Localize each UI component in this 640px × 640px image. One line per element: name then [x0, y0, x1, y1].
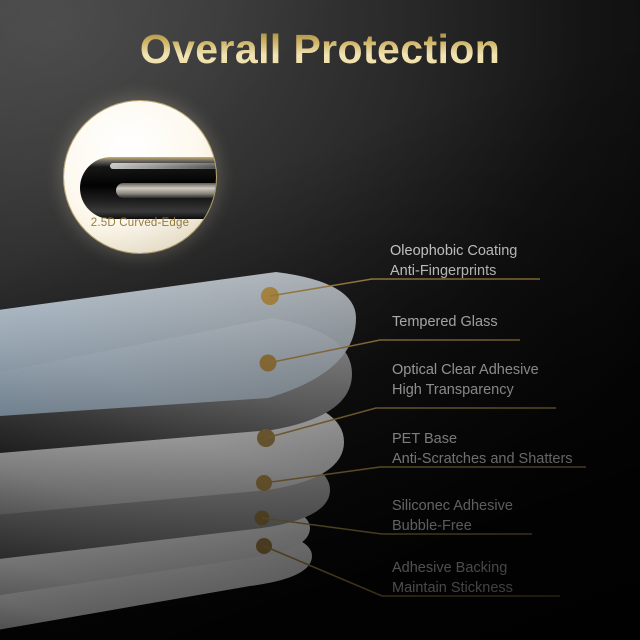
- label-siliconec-adhesive: Siliconec Adhesive Bubble-Free: [392, 496, 513, 536]
- label-line-2: High Transparency: [392, 380, 539, 400]
- curved-edge-glass-icon: [80, 157, 216, 219]
- label-oleophobic-coating: Oleophobic Coating Anti-Fingerprints: [390, 241, 517, 281]
- label-line-1: PET Base: [392, 429, 573, 449]
- curved-edge-inset-callout: 2.5D Curved-Edge: [64, 101, 216, 253]
- page-title: Overall Protection: [0, 26, 640, 73]
- label-line-1: Oleophobic Coating: [390, 241, 517, 261]
- label-tempered-glass: Tempered Glass: [392, 312, 498, 332]
- label-line-1: Optical Clear Adhesive: [392, 360, 539, 380]
- label-optical-clear-adhesive: Optical Clear Adhesive High Transparency: [392, 360, 539, 400]
- label-line-2: Bubble-Free: [392, 516, 513, 536]
- label-adhesive-backing: Adhesive Backing Maintain Stickness: [392, 558, 513, 598]
- label-line-2: Anti-Fingerprints: [390, 261, 517, 281]
- screen-protector-infographic: Oleophobic Coating Anti-Fingerprints Tem…: [0, 0, 640, 640]
- label-line-1: Tempered Glass: [392, 312, 498, 332]
- label-line-1: Siliconec Adhesive: [392, 496, 513, 516]
- label-pet-base: PET Base Anti-Scratches and Shatters: [392, 429, 573, 469]
- leader-lines: [0, 0, 640, 640]
- inset-caption: 2.5D Curved-Edge: [64, 217, 216, 229]
- label-line-2: Maintain Stickness: [392, 578, 513, 598]
- label-line-1: Adhesive Backing: [392, 558, 513, 578]
- label-line-2: Anti-Scratches and Shatters: [392, 449, 573, 469]
